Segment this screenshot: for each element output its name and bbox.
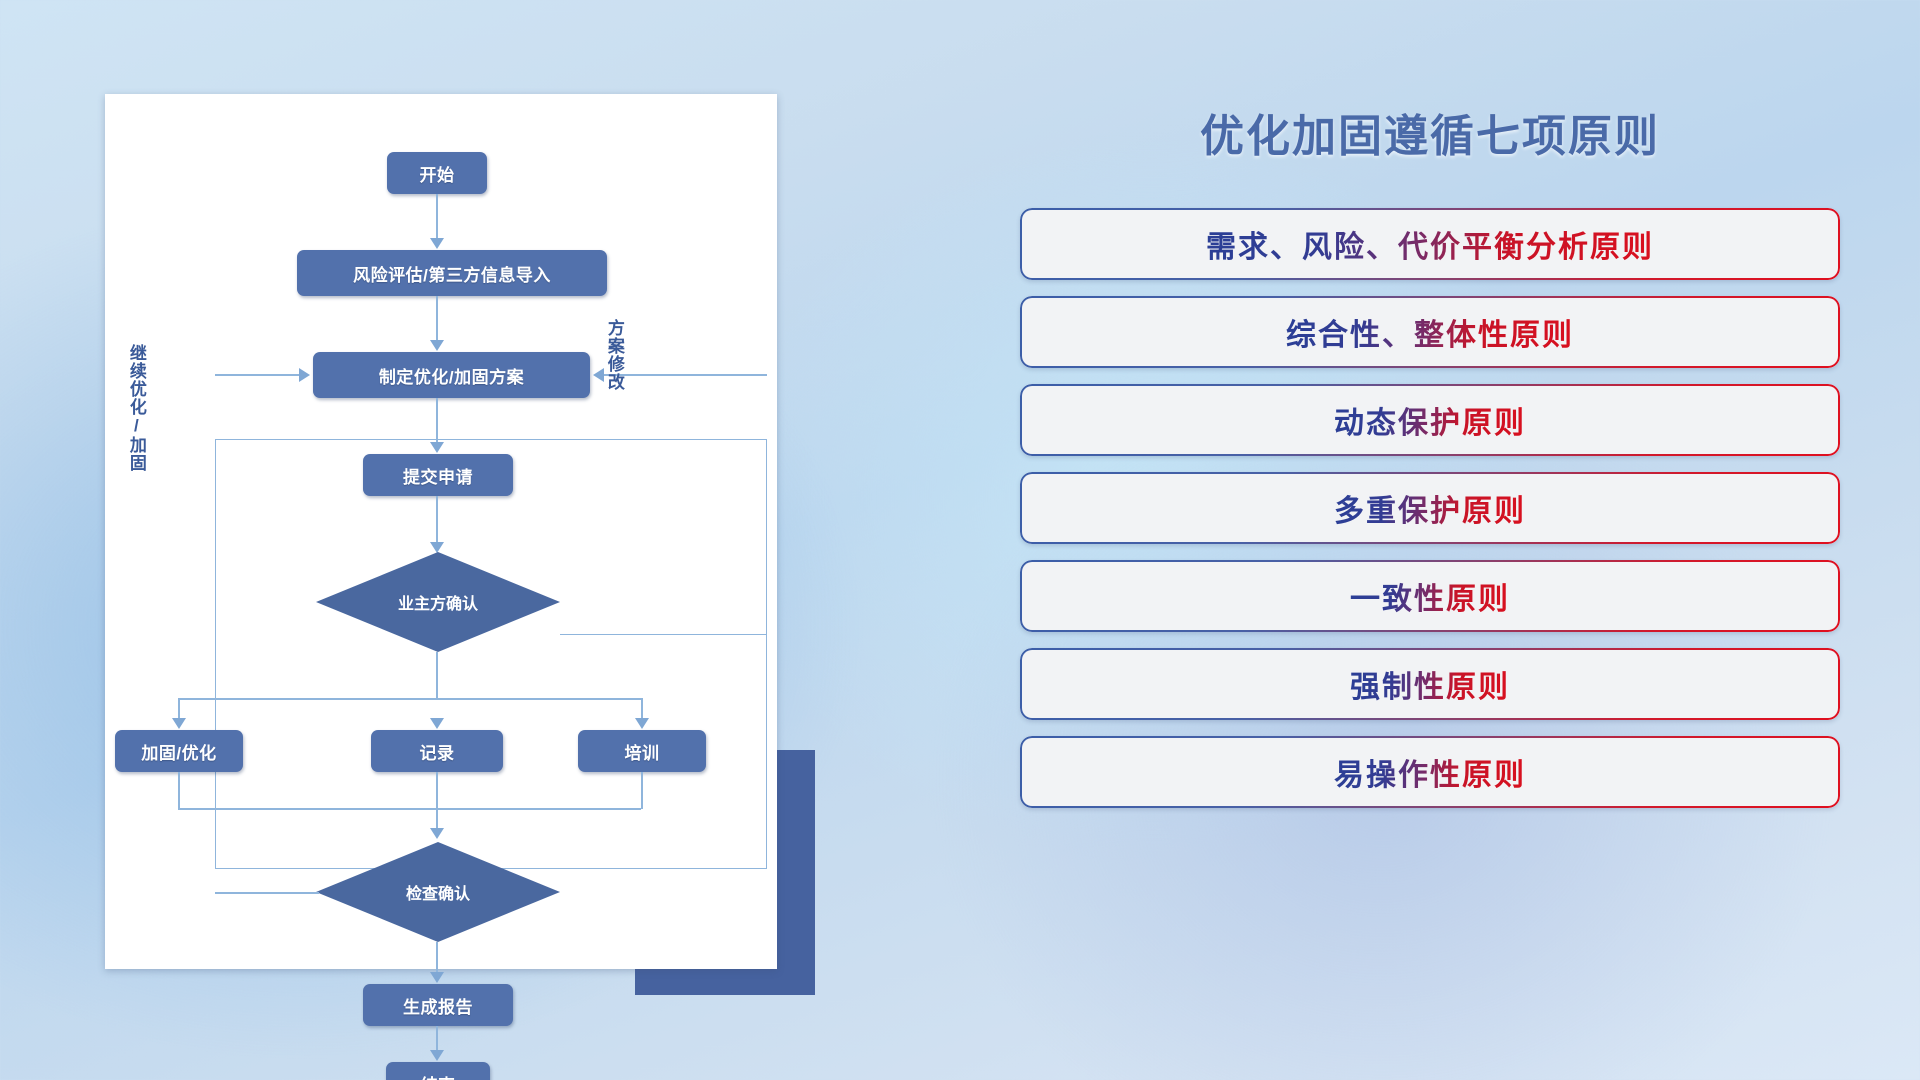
arrowhead-to-plan	[430, 340, 444, 351]
node-risk-assessment[interactable]: 风险评估/第三方信息导入	[297, 250, 607, 296]
arrowhead-to-submit	[430, 442, 444, 453]
node-owner-confirm-label: 业主方确认	[398, 590, 478, 614]
principles-section: 优化加固遵循七项原则 需求、风险、代价平衡分析原则 综合性、整体性原则 动态保护…	[1020, 100, 1840, 824]
node-make-plan[interactable]: 制定优化/加固方案	[313, 352, 590, 398]
arrowhead-left-loop-into-plan	[299, 368, 310, 382]
node-check-confirm-label: 检查确认	[406, 880, 470, 904]
connector-right-loop-into-plan	[604, 374, 767, 376]
arrowhead-to-record	[430, 718, 444, 729]
connector-check-to-left-loop	[215, 892, 319, 894]
node-reinforce-optimize[interactable]: 加固/优化	[115, 730, 243, 772]
branch-bus-horizontal	[178, 698, 641, 700]
flowchart-panel: 开始 风险评估/第三方信息导入 制定优化/加固方案 继续优化/加固 方案修改 提…	[105, 94, 777, 969]
merge-left-riser	[178, 772, 180, 809]
connector-start-to-risk	[436, 194, 438, 241]
principle-label-5: 一致性原则	[1350, 574, 1510, 618]
principle-label-3: 动态保护原则	[1334, 398, 1526, 442]
principle-card-6[interactable]: 强制性原则	[1020, 648, 1840, 720]
node-record-label: 记录	[420, 739, 455, 764]
principle-card-3[interactable]: 动态保护原则	[1020, 384, 1840, 456]
merge-bus-horizontal	[178, 808, 641, 810]
arrowhead-to-report	[430, 972, 444, 983]
node-end[interactable]: 结束	[386, 1062, 490, 1080]
node-reinforce-optimize-label: 加固/优化	[141, 739, 216, 764]
connector-merge-to-check	[436, 772, 438, 834]
connector-left-loop-into-plan	[215, 374, 301, 376]
node-generate-report[interactable]: 生成报告	[363, 984, 513, 1026]
principles-title: 优化加固遵循七项原则	[1020, 100, 1840, 164]
node-training-label: 培训	[625, 739, 660, 764]
principle-label-6: 强制性原则	[1350, 662, 1510, 706]
edge-label-left-loop: 继续优化/加固	[127, 344, 145, 472]
merge-right-riser	[641, 772, 643, 809]
node-generate-report-label: 生成报告	[403, 993, 473, 1018]
principle-label-4: 多重保护原则	[1334, 486, 1526, 530]
arrowhead-to-check-confirm	[430, 828, 444, 839]
node-start-label: 开始	[420, 161, 455, 186]
principle-label-1: 需求、风险、代价平衡分析原则	[1206, 222, 1654, 266]
arrowhead-to-risk	[430, 238, 444, 249]
right-loop-boundary	[560, 439, 767, 635]
connector-check-to-report	[436, 942, 438, 976]
node-training[interactable]: 培训	[578, 730, 706, 772]
principle-label-7: 易操作性原则	[1334, 750, 1526, 794]
principle-card-1[interactable]: 需求、风险、代价平衡分析原则	[1020, 208, 1840, 280]
connector-plan-to-submit	[436, 398, 438, 446]
node-risk-assessment-label: 风险评估/第三方信息导入	[353, 261, 551, 286]
node-end-label: 结束	[421, 1071, 456, 1080]
arrowhead-right-loop-into-plan	[593, 368, 604, 382]
connector-submit-to-owner	[436, 496, 438, 546]
principle-card-4[interactable]: 多重保护原则	[1020, 472, 1840, 544]
node-start[interactable]: 开始	[387, 152, 487, 194]
node-submit-application-label: 提交申请	[403, 463, 473, 488]
arrowhead-to-owner-confirm	[430, 542, 444, 553]
node-record[interactable]: 记录	[371, 730, 503, 772]
connector-owner-to-branch	[436, 652, 438, 700]
arrowhead-to-reinforce	[172, 718, 186, 729]
connector-risk-to-plan	[436, 296, 438, 344]
principle-label-2: 综合性、整体性原则	[1286, 310, 1574, 354]
principle-card-7[interactable]: 易操作性原则	[1020, 736, 1840, 808]
arrowhead-to-end	[430, 1050, 444, 1061]
node-make-plan-label: 制定优化/加固方案	[379, 363, 524, 388]
edge-label-right-loop: 方案修改	[605, 319, 623, 391]
arrowhead-to-training	[635, 718, 649, 729]
principle-card-5[interactable]: 一致性原则	[1020, 560, 1840, 632]
principle-card-2[interactable]: 综合性、整体性原则	[1020, 296, 1840, 368]
node-submit-application[interactable]: 提交申请	[363, 454, 513, 496]
